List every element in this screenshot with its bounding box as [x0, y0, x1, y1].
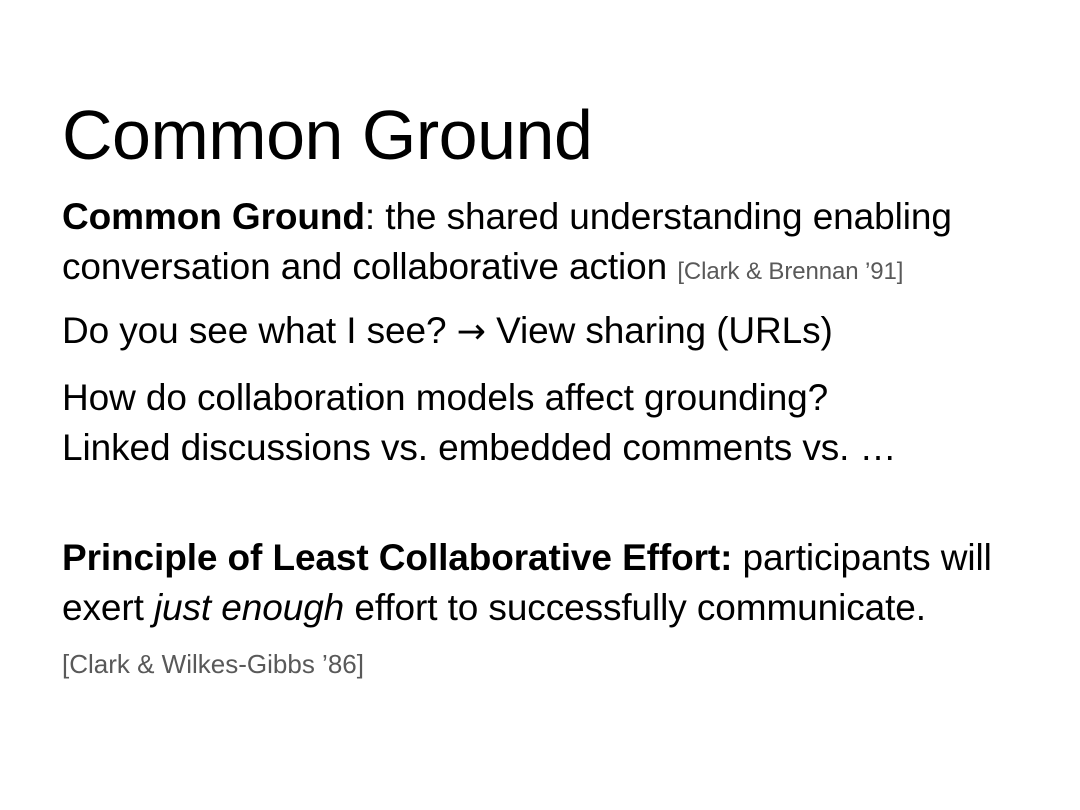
- slide-canvas: Common Ground Common Ground: the shared …: [0, 0, 1080, 810]
- principle-term: Principle of Least Collaborative Effort:: [62, 537, 732, 578]
- slide-body: Common Ground: the shared understanding …: [62, 192, 1030, 681]
- citation-clark-wilkes-gibbs: [Clark & Wilkes-Gibbs ’86]: [62, 647, 1030, 681]
- grounding-line2: Linked discussions vs. embedded comments…: [62, 423, 1030, 473]
- definition-separator: :: [365, 196, 385, 237]
- page-title: Common Ground: [62, 99, 1022, 173]
- paragraph-grounding-question: How do collaboration models affect groun…: [62, 373, 1030, 473]
- view-sharing-answer: View sharing (URLs): [486, 310, 833, 351]
- paragraph-spacer: [62, 489, 1030, 533]
- right-arrow-icon: →: [457, 312, 486, 352]
- grounding-line1: How do collaboration models affect groun…: [62, 373, 1030, 423]
- definition-line2-text: conversation and collaborative action: [62, 246, 667, 287]
- paragraph-least-collaborative-effort: Principle of Least Collaborative Effort:…: [62, 533, 1030, 633]
- citation-clark-brennan: [Clark & Brennan ’91]: [677, 258, 903, 285]
- principle-emphasis: just enough: [154, 587, 344, 628]
- definition-line1-text: the shared understanding enabling: [385, 196, 952, 237]
- view-sharing-question: Do you see what I see?: [62, 310, 457, 351]
- principle-text-after-italic: effort to successfully communicate.: [344, 587, 926, 628]
- paragraph-common-ground-definition: Common Ground: the shared understanding …: [62, 192, 1030, 292]
- paragraph-view-sharing: Do you see what I see? → View sharing (U…: [62, 306, 1030, 357]
- definition-term: Common Ground: [62, 196, 365, 237]
